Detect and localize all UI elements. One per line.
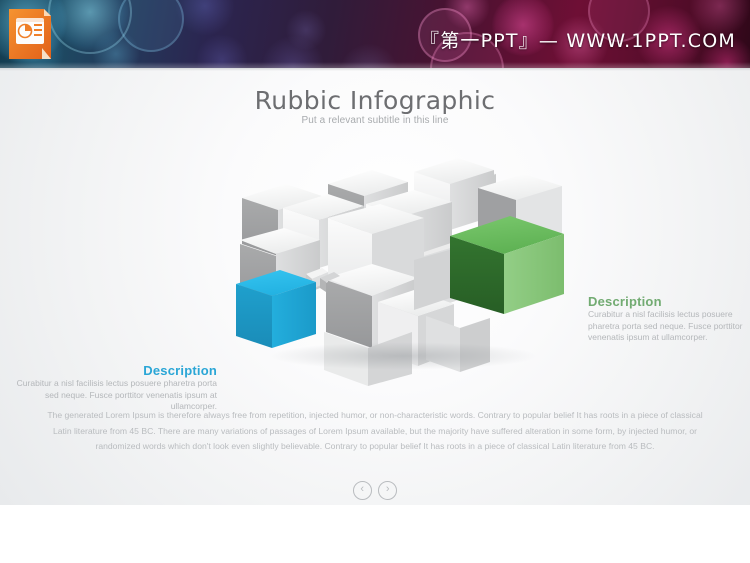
header-brand-text: 『第一PPT』— WWW.1PPT.COM (420, 26, 736, 53)
blue-cube (236, 270, 316, 348)
page-title: Rubbic Infographic (0, 86, 750, 115)
site-header-banner: 『第一PPT』— WWW.1PPT.COM (0, 0, 750, 68)
body-paragraph: The generated Lorem Ipsum is therefore a… (42, 408, 708, 455)
slide-top-shadow (0, 68, 750, 71)
rubik-cube-graphic (228, 156, 588, 386)
cube-ground-shadow (268, 342, 538, 370)
bokeh-circle (286, 10, 326, 50)
powerpoint-document-icon (6, 6, 54, 62)
description-right-body: Curabitur a nisl facilisis lectus posuer… (588, 309, 748, 344)
next-slide-button[interactable]: › (378, 481, 397, 500)
prev-slide-button[interactable]: ‹ (353, 481, 372, 500)
slide-body: Rubbic Infographic Put a relevant subtit… (0, 68, 750, 505)
chevron-left-icon: ‹ (354, 482, 371, 499)
description-left-heading: Description (2, 363, 217, 378)
green-cube (450, 216, 564, 314)
description-right-heading: Description (588, 294, 748, 309)
bokeh-circle (118, 0, 184, 52)
chevron-right-icon: › (379, 482, 396, 499)
bokeh-circle (48, 0, 132, 54)
page-subtitle: Put a relevant subtitle in this line (0, 115, 750, 126)
slide-navigation: ‹ › (0, 481, 750, 500)
bokeh-circle (175, 0, 235, 36)
description-block-left: Description Curabitur a nisl facilisis l… (2, 363, 217, 413)
description-block-right: Description Curabitur a nisl facilisis l… (588, 294, 748, 344)
site-footer: 第一PPT HTTP://WWW.1PPT.COM (0, 505, 750, 563)
slide-canvas: 『第一PPT』— WWW.1PPT.COM Rubbic Infographic… (0, 0, 750, 563)
